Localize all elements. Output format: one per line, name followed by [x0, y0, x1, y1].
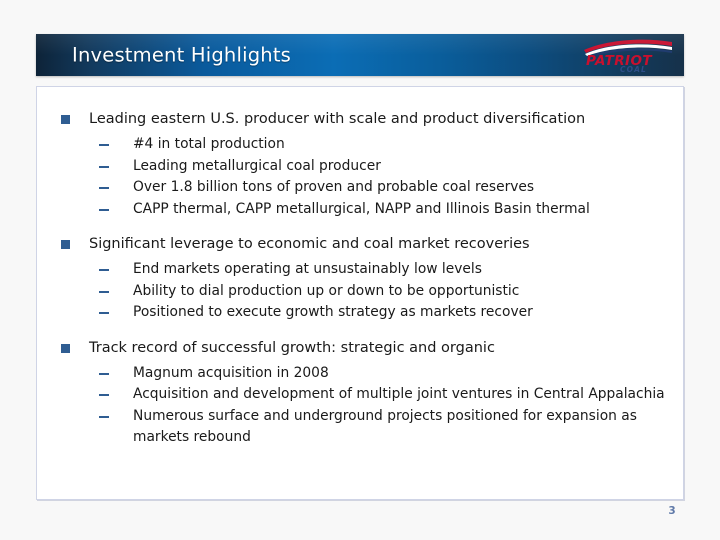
- patriot-coal-logo: PATRIOT COAL: [580, 37, 676, 73]
- dash-bullet-icon: [99, 416, 109, 418]
- bullet-level2: Ability to dial production up or down to…: [61, 281, 669, 303]
- bullet-level2-label: Over 1.8 billion tons of proven and prob…: [133, 179, 534, 195]
- dash-bullet-icon: [99, 144, 109, 146]
- bullet-level2-label: CAPP thermal, CAPP metallurgical, NAPP a…: [133, 201, 590, 217]
- slide-header-bar: Investment Highlights PATRIOT COAL: [36, 34, 684, 76]
- page-title: Investment Highlights: [72, 44, 291, 67]
- bullet-group: Leading eastern U.S. producer with scale…: [61, 109, 669, 220]
- bullet-level1: Leading eastern U.S. producer with scale…: [61, 109, 669, 130]
- bullet-level2: Over 1.8 billion tons of proven and prob…: [61, 177, 669, 199]
- bullet-level2: End markets operating at unsustainably l…: [61, 259, 669, 281]
- dash-bullet-icon: [99, 394, 109, 396]
- bullet-level2: Magnum acquisition in 2008: [61, 363, 669, 385]
- bullet-list: Leading eastern U.S. producer with scale…: [61, 109, 669, 449]
- dash-bullet-icon: [99, 166, 109, 168]
- bullet-level1-label: Leading eastern U.S. producer with scale…: [89, 111, 585, 127]
- bullet-level1: Significant leverage to economic and coa…: [61, 234, 669, 255]
- bullet-level2-label: Acquisition and development of multiple …: [133, 386, 665, 402]
- bullet-level2-label: Positioned to execute growth strategy as…: [133, 304, 533, 320]
- bullet-level1: Track record of successful growth: strat…: [61, 338, 669, 359]
- slide-canvas: Investment Highlights PATRIOT COAL Leadi…: [0, 0, 720, 540]
- dash-bullet-icon: [99, 187, 109, 189]
- square-bullet-icon: [61, 115, 70, 124]
- bullet-group: Significant leverage to economic and coa…: [61, 234, 669, 324]
- bullet-level2: CAPP thermal, CAPP metallurgical, NAPP a…: [61, 199, 669, 221]
- dash-bullet-icon: [99, 373, 109, 375]
- bullet-level2-label: Leading metallurgical coal producer: [133, 158, 381, 174]
- bullet-level2: Leading metallurgical coal producer: [61, 156, 669, 178]
- bullet-level2: Numerous surface and underground project…: [61, 406, 669, 449]
- dash-bullet-icon: [99, 312, 109, 314]
- bullet-level2: #4 in total production: [61, 134, 669, 156]
- bullet-level1-label: Track record of successful growth: strat…: [89, 340, 495, 356]
- bullet-level2-label: End markets operating at unsustainably l…: [133, 261, 482, 277]
- bullet-level2-label: Magnum acquisition in 2008: [133, 365, 329, 381]
- bullet-level2: Acquisition and development of multiple …: [61, 384, 669, 406]
- dash-bullet-icon: [99, 269, 109, 271]
- page-number: 3: [660, 505, 684, 517]
- content-frame: Leading eastern U.S. producer with scale…: [36, 86, 684, 500]
- bullet-level2-label: Ability to dial production up or down to…: [133, 283, 519, 299]
- logo-subtext: COAL: [620, 65, 647, 73]
- bullet-level2: Positioned to execute growth strategy as…: [61, 302, 669, 324]
- bullet-level2-label: #4 in total production: [133, 136, 285, 152]
- bullet-level1-label: Significant leverage to economic and coa…: [89, 236, 530, 252]
- bullet-level2-label: Numerous surface and underground project…: [133, 408, 637, 446]
- bullet-group: Track record of successful growth: strat…: [61, 338, 669, 449]
- square-bullet-icon: [61, 344, 70, 353]
- square-bullet-icon: [61, 240, 70, 249]
- dash-bullet-icon: [99, 291, 109, 293]
- dash-bullet-icon: [99, 209, 109, 211]
